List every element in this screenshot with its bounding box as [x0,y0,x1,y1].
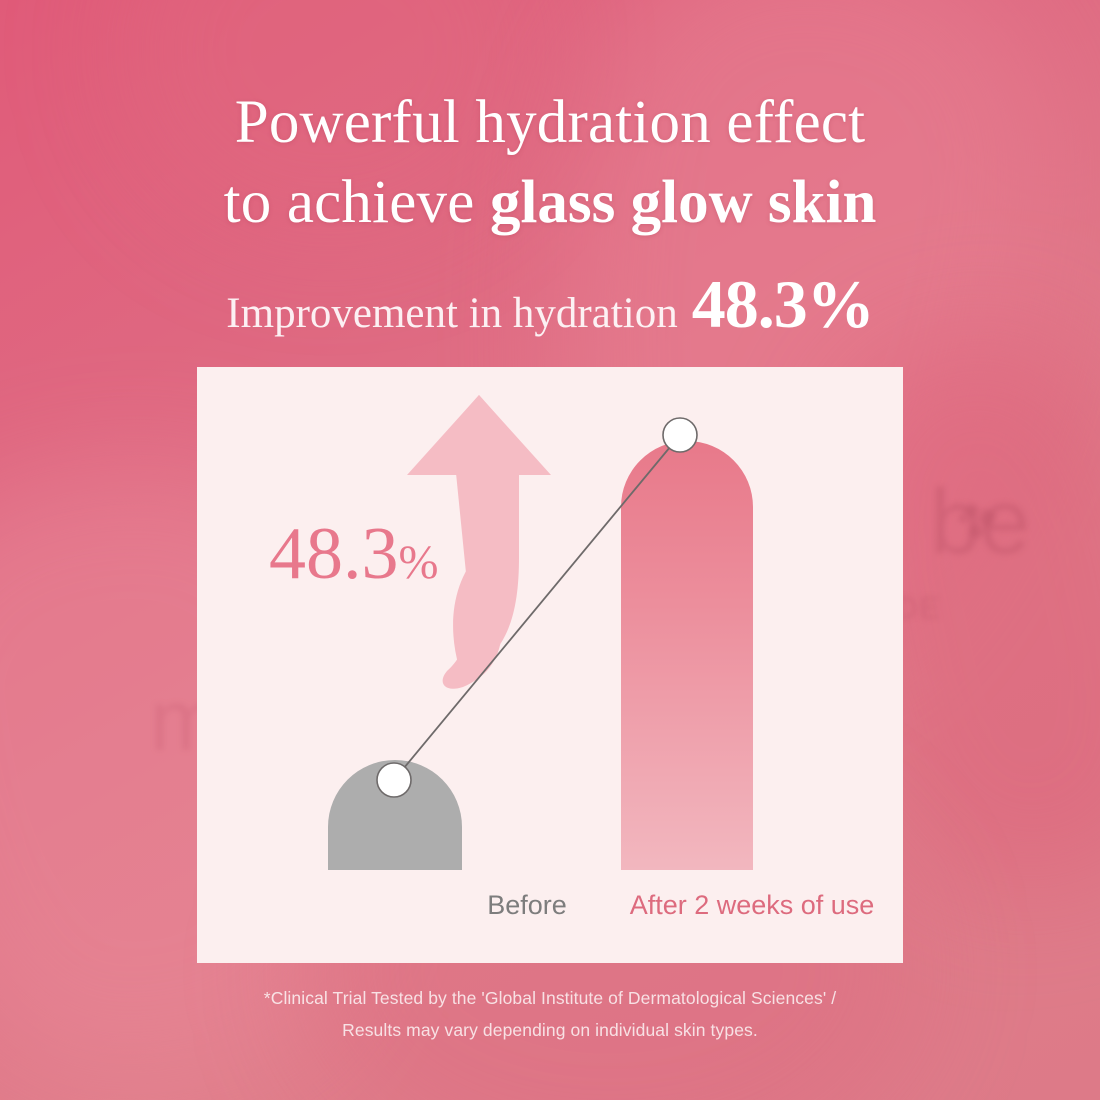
bar-after [621,441,753,870]
headline-line-2: to achieve glass glow skin [0,172,1100,233]
subheadline: Improvement in hydration48.3% [0,265,1100,344]
footnote: *Clinical Trial Tested by the 'Global In… [0,982,1100,1047]
data-point-marker-after [663,418,697,452]
headline: Powerful hydration effect to achieve gla… [0,92,1100,233]
hydration-bar-chart: 48.3% Before After 2 weeks of use [197,367,903,963]
background-logo-mark-icon [950,500,1003,553]
data-point-marker-before [377,763,411,797]
chart-improvement-number: 48.3 [269,513,399,595]
bar-label-after: After 2 weeks of use [532,890,903,921]
subheadline-label: Improvement in hydration [226,290,677,337]
headline-line-1: Powerful hydration effect [0,92,1100,153]
background-brand-text: be [930,470,1028,575]
subheadline-value: 48.3% [692,266,874,342]
footnote-line-2: Results may vary depending on individual… [0,1014,1100,1046]
chart-improvement-value: 48.3% [269,517,438,591]
headline-emphasis: glass glow skin [490,169,876,236]
promo-graphic: be NIDE m Powerful hydration effect to a… [0,0,1100,1100]
chart-improvement-unit: % [399,536,439,589]
footnote-line-1: *Clinical Trial Tested by the 'Global In… [0,982,1100,1014]
headline-line-2-prefix: to achieve [224,169,490,236]
chart-graphics [197,367,903,963]
